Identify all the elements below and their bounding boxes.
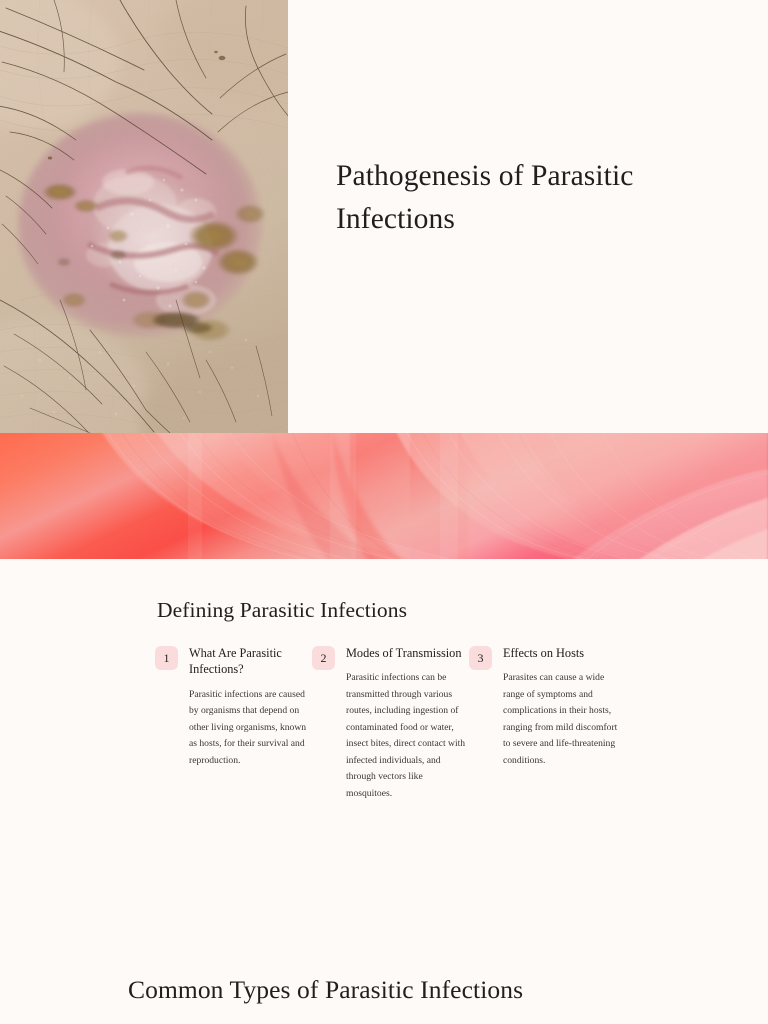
slide-page: Pathogenesis of Parasitic Infections xyxy=(0,0,768,1024)
bottom-section-heading: Common Types of Parasitic Infections xyxy=(128,975,523,1006)
feature-card-title: What Are Parasitic Infections? xyxy=(189,645,312,678)
feature-card-body: Effects on Hosts Parasites can cause a w… xyxy=(503,645,626,769)
feature-number-badge: 2 xyxy=(312,646,335,670)
feature-card: 1 What Are Parasitic Infections? Parasit… xyxy=(155,645,312,802)
feature-card-body: What Are Parasitic Infections? Parasitic… xyxy=(189,645,312,769)
skin-lesion-photograph xyxy=(0,0,288,433)
feature-card: 3 Effects on Hosts Parasites can cause a… xyxy=(469,645,626,802)
feature-card-text: Parasitic infections can be transmitted … xyxy=(346,670,469,802)
feature-card-text: Parasites can cause a wide range of symp… xyxy=(503,670,626,769)
section-heading: Defining Parasitic Infections xyxy=(157,598,407,624)
feature-card-body: Modes of Transmission Parasitic infectio… xyxy=(346,645,469,802)
feature-card-title: Effects on Hosts xyxy=(503,645,626,661)
page-title: Pathogenesis of Parasitic Infections xyxy=(336,155,726,241)
feature-card-text: Parasitic infections are caused by organ… xyxy=(189,687,312,770)
abstract-wave-gradient-banner xyxy=(0,433,768,559)
feature-number-badge: 1 xyxy=(155,646,178,670)
feature-number-badge: 3 xyxy=(469,646,492,670)
hero-section: Pathogenesis of Parasitic Infections xyxy=(0,0,768,433)
feature-card-title: Modes of Transmission xyxy=(346,645,469,661)
feature-card: 2 Modes of Transmission Parasitic infect… xyxy=(312,645,469,802)
feature-cards-row: 1 What Are Parasitic Infections? Parasit… xyxy=(155,645,635,802)
